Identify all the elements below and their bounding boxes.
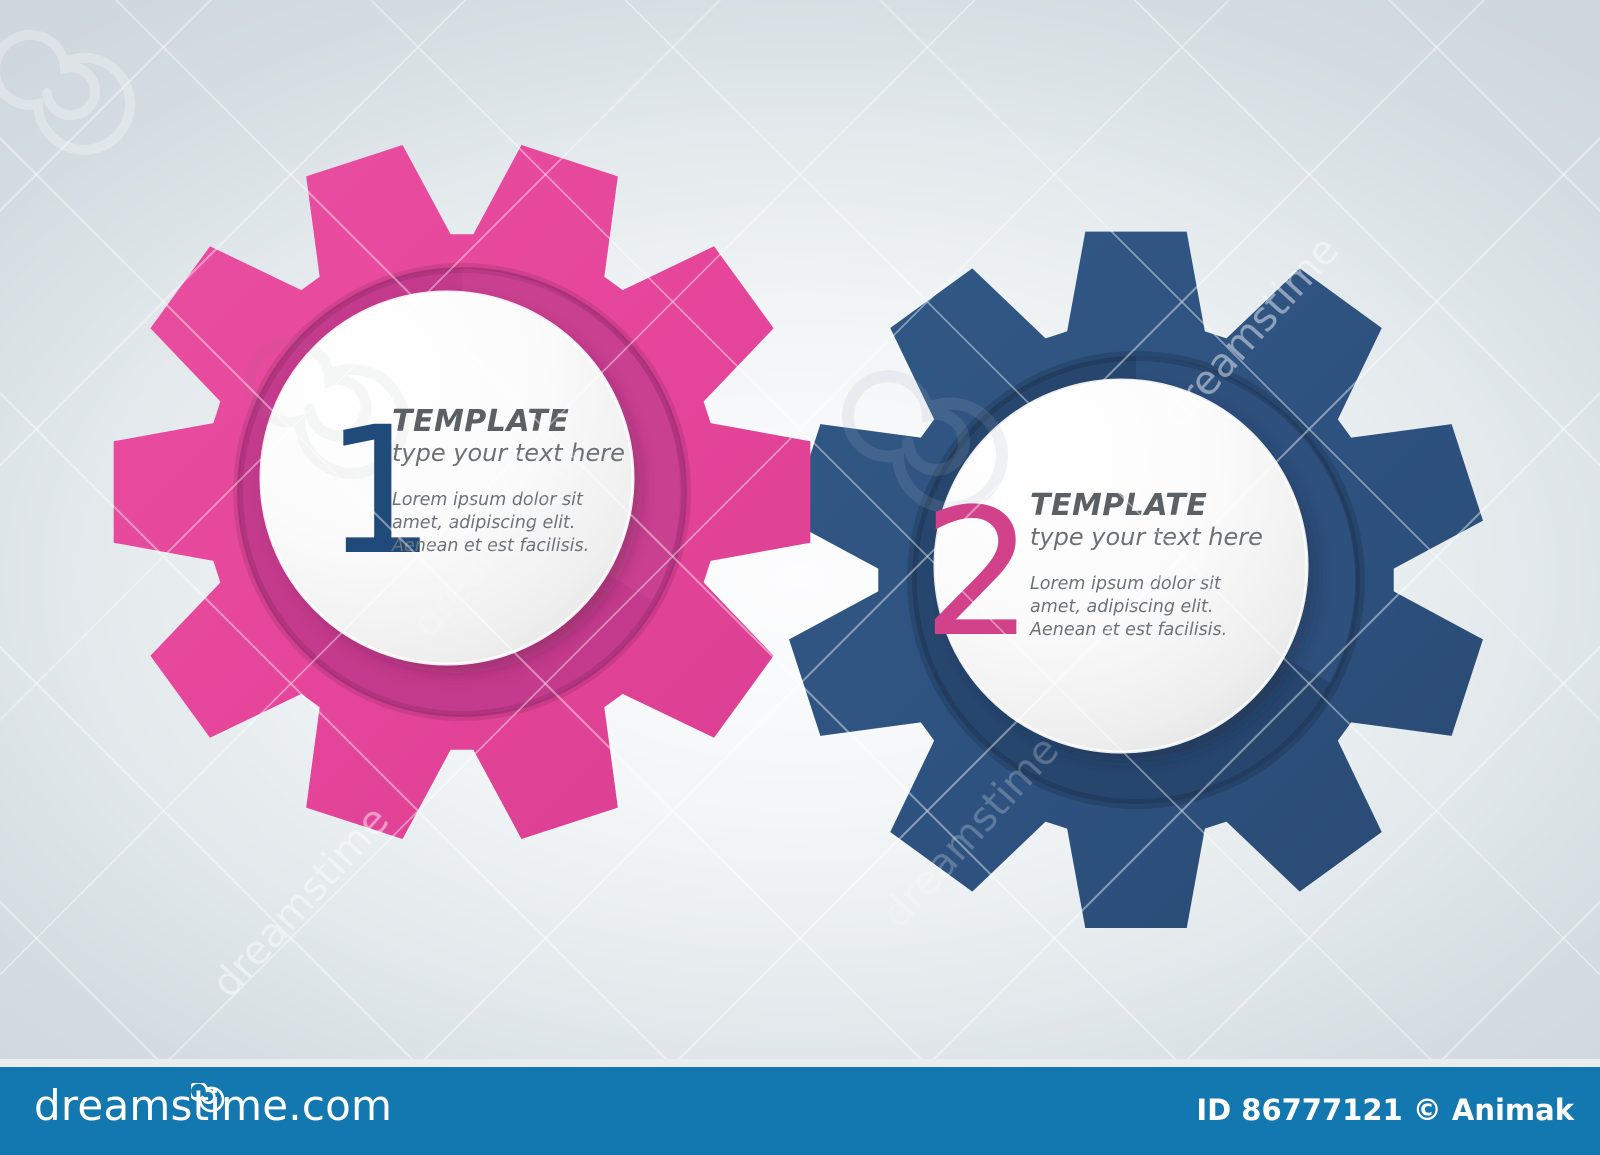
step-number-2: 2: [922, 486, 1034, 662]
step-2-subtitle: type your text here: [1030, 524, 1262, 551]
step-1-body: Lorem ipsum dolor sit amet, adipiscing e…: [392, 489, 628, 559]
step-1-subtitle: type your text here: [392, 440, 628, 467]
step-2-title: TEMPLATE: [1030, 490, 1262, 522]
step-1-text-block: TEMPLATE type your text here Lorem ipsum…: [392, 406, 628, 558]
spiral-icon: [0, 35, 130, 150]
canvas: 1 2 TEMPLATE type your text here Lorem i…: [0, 0, 1600, 1155]
dreamstime-footer-bar: dreamstime.com ID 86777121 © Animak: [0, 1067, 1600, 1155]
step-2-body: Lorem ipsum dolor sit amet, adipiscing e…: [1030, 573, 1262, 643]
step-2-text-block: TEMPLATE type your text here Lorem ipsum…: [1030, 490, 1262, 642]
dreamstime-logo[interactable]: dreamstime.com: [34, 1085, 392, 1127]
step-1-title: TEMPLATE: [392, 406, 628, 438]
image-id-credit: ID 86777121 © Animak: [1196, 1093, 1574, 1127]
spiral-logo-icon: [191, 1083, 225, 1117]
